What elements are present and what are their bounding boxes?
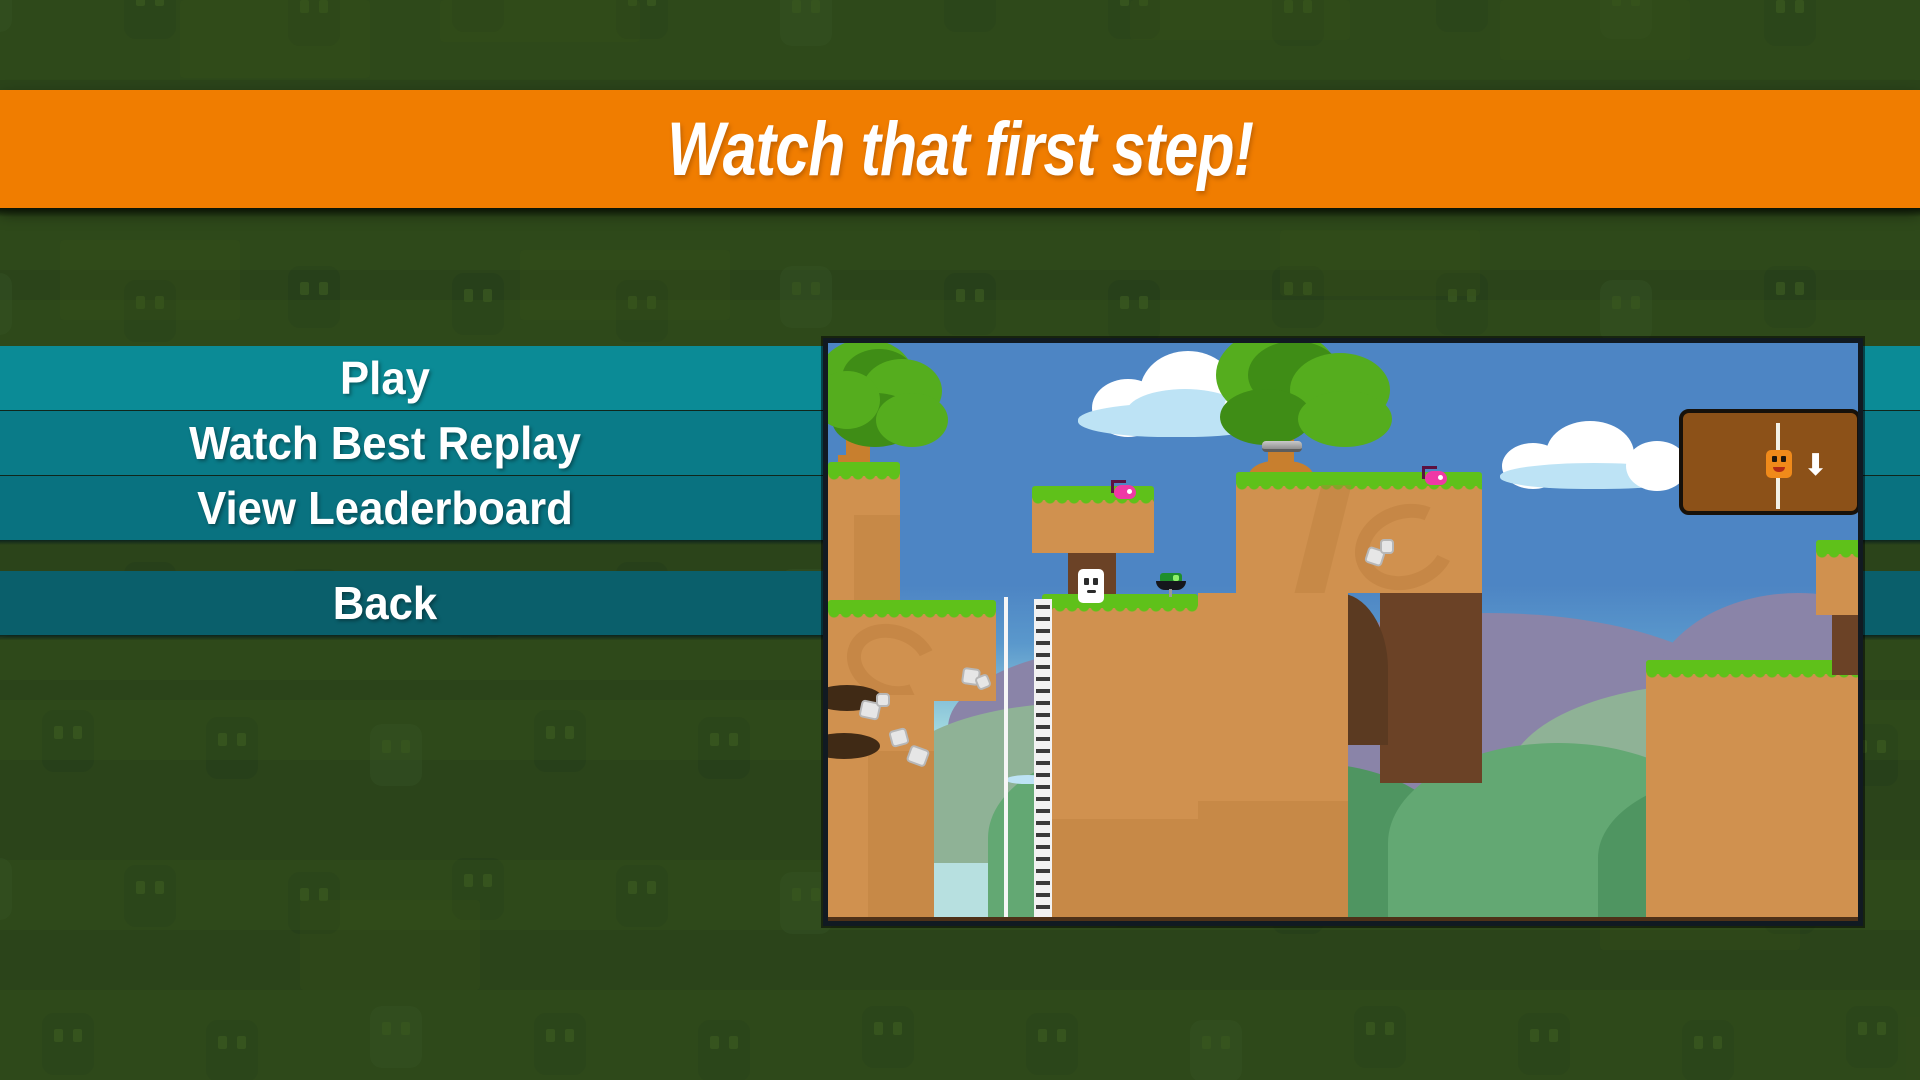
hint-character-eye-right — [1781, 456, 1786, 462]
platform-right-shelf — [1198, 593, 1348, 926]
tree-1-leaf-5 — [876, 393, 948, 447]
enemy-eye — [1438, 475, 1443, 480]
menu-item-view-leaderboard-label: View Leaderboard — [19, 481, 751, 535]
cave-pillar-right — [1380, 593, 1482, 783]
grass-top — [828, 462, 900, 476]
wallpaper-blot — [1130, 0, 1350, 40]
green-device-icon — [1156, 573, 1186, 597]
rock-8 — [1380, 539, 1394, 554]
wallpaper-blot — [180, 0, 370, 78]
platform-left-column — [828, 473, 900, 611]
player-eye-left — [1084, 578, 1089, 585]
hint-character — [1766, 450, 1792, 478]
platform-mid-float — [1032, 497, 1154, 553]
player-character — [1078, 569, 1104, 603]
grass-top — [828, 600, 996, 614]
menu-item-back-label: Back — [19, 576, 751, 630]
hint-character-eye-left — [1772, 456, 1777, 462]
wallpaper-blot — [1500, 0, 1690, 60]
grass-top — [1646, 660, 1863, 674]
rock-2 — [876, 693, 890, 707]
hint-overlay-panel: ⬇ — [1679, 409, 1861, 515]
ladder — [1034, 599, 1052, 926]
hint-character-mouth — [1773, 467, 1785, 472]
ground-strip — [828, 917, 1863, 926]
platform-far-right-ground — [1646, 671, 1863, 926]
menu-item-play-label: Play — [19, 351, 751, 405]
page-title: Watch that first step! — [667, 106, 1253, 193]
wallpaper-blot — [60, 240, 240, 320]
platform-left-base — [828, 695, 934, 926]
enemy-1 — [1425, 471, 1447, 485]
player-eye-right — [1093, 578, 1098, 585]
far-right-pillar — [1832, 615, 1863, 675]
metal-platform — [1262, 441, 1302, 452]
enemy-eye — [1127, 489, 1132, 494]
platform-player-ledge — [1042, 605, 1198, 926]
wallpaper-band — [0, 208, 1920, 270]
wallpaper-blot — [300, 900, 480, 990]
pole-left — [1004, 597, 1008, 926]
wallpaper-band — [0, 990, 1920, 1080]
wallpaper-blot — [1280, 230, 1480, 296]
player-mouth — [1087, 590, 1096, 593]
wallpaper-blot — [440, 0, 640, 42]
platform-far-right-small — [1816, 551, 1863, 615]
level-preview-viewport[interactable]: ↓ — [823, 338, 1863, 926]
menu-item-watch-best-replay-label: Watch Best Replay — [19, 416, 751, 470]
wallpaper-blot — [520, 250, 730, 320]
cloud-2 — [1500, 421, 1690, 485]
hint-down-arrow-icon: ⬇ — [1803, 451, 1828, 481]
tree-2-leaf-5 — [1298, 391, 1392, 447]
enemy-2 — [1114, 485, 1136, 499]
platform-upper-center — [1236, 483, 1482, 593]
level-title-banner: Watch that first step! — [0, 90, 1920, 208]
device-stem — [1169, 589, 1172, 597]
grass-top — [1816, 540, 1863, 554]
